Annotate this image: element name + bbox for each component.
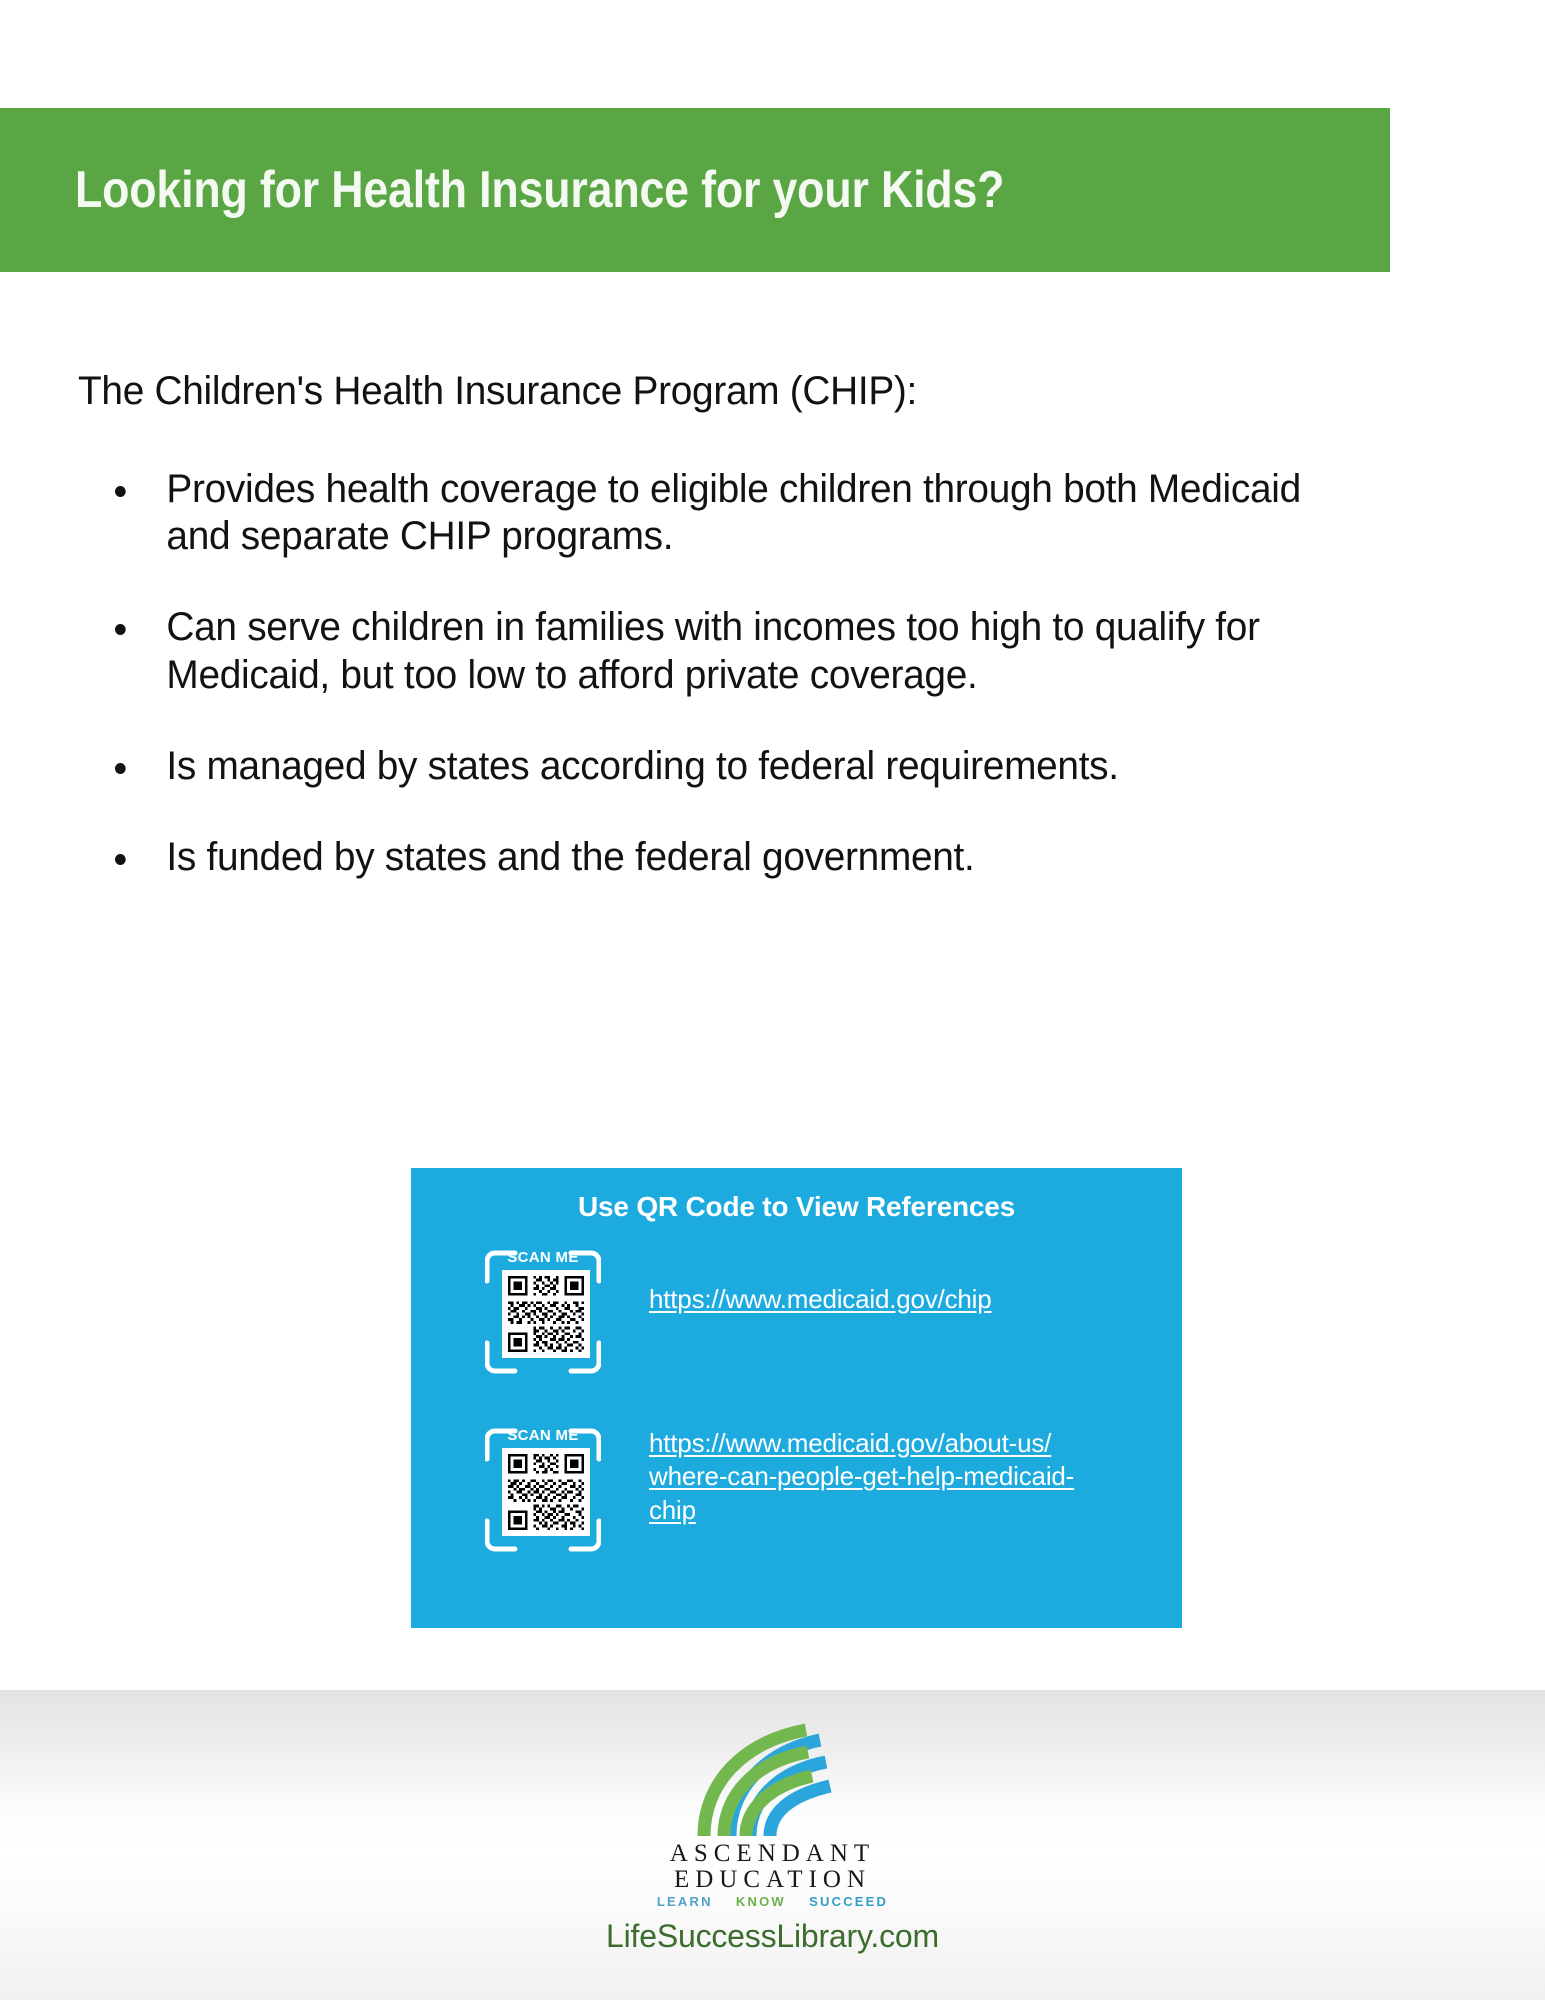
list-item: Is managed by states according to federa… (115, 743, 1321, 790)
qr-references-panel: Use QR Code to View References SCAN ME (411, 1168, 1182, 1628)
logo-wordmark: ASCENDANT EDUCATION (0, 1841, 1545, 1892)
tagline-succeed: SUCCEED (809, 1894, 888, 1909)
logo-tagline: LEARN KNOW SUCCEED (0, 1894, 1545, 1909)
list-item: Can serve children in families with inco… (115, 604, 1321, 698)
tagline-learn: LEARN (657, 1894, 713, 1909)
qr-badge[interactable]: SCAN ME (485, 1247, 601, 1377)
list-item: Is funded by states and the federal gove… (115, 834, 1321, 881)
logo-name-line1: ASCENDANT (0, 1841, 1545, 1867)
reference-link[interactable]: https://www.medicaid.gov/about-us/ where… (649, 1427, 1074, 1527)
qr-code-image[interactable] (502, 1270, 590, 1358)
scan-me-label: SCAN ME (485, 1427, 601, 1444)
qr-entry-row: SCAN ME (411, 1425, 1182, 1555)
chip-facts-list: Provides health coverage to eligible chi… (0, 466, 1545, 881)
page-title: Looking for Health Insurance for your Ki… (75, 160, 1004, 220)
body-content: The Children's Health Insurance Program … (0, 368, 1545, 925)
brand-logo: ASCENDANT EDUCATION LEARN KNOW SUCCEED (0, 1718, 1545, 1909)
qr-entry-row: SCAN ME (411, 1247, 1182, 1377)
tagline-know: KNOW (736, 1894, 786, 1909)
qr-panel-title: Use QR Code to View References (411, 1168, 1182, 1223)
footer: ASCENDANT EDUCATION LEARN KNOW SUCCEED L… (0, 1690, 1545, 2000)
slide-page: Looking for Health Insurance for your Ki… (0, 0, 1545, 2000)
reference-link[interactable]: https://www.medicaid.gov/chip (649, 1283, 991, 1316)
qr-badge[interactable]: SCAN ME (485, 1425, 601, 1555)
header-banner: Looking for Health Insurance for your Ki… (0, 108, 1390, 272)
footer-website[interactable]: LifeSuccessLibrary.com (0, 1918, 1545, 1955)
list-item: Provides health coverage to eligible chi… (115, 466, 1321, 560)
qr-link-group: https://www.medicaid.gov/chip (601, 1247, 991, 1316)
qr-code-image[interactable] (502, 1448, 590, 1536)
intro-paragraph: The Children's Health Insurance Program … (78, 368, 1501, 414)
scan-me-label: SCAN ME (485, 1249, 601, 1266)
logo-name-line2: EDUCATION (0, 1867, 1545, 1893)
ascendant-logo-mark-icon (684, 1718, 862, 1845)
qr-link-group: https://www.medicaid.gov/about-us/ where… (601, 1425, 1074, 1527)
